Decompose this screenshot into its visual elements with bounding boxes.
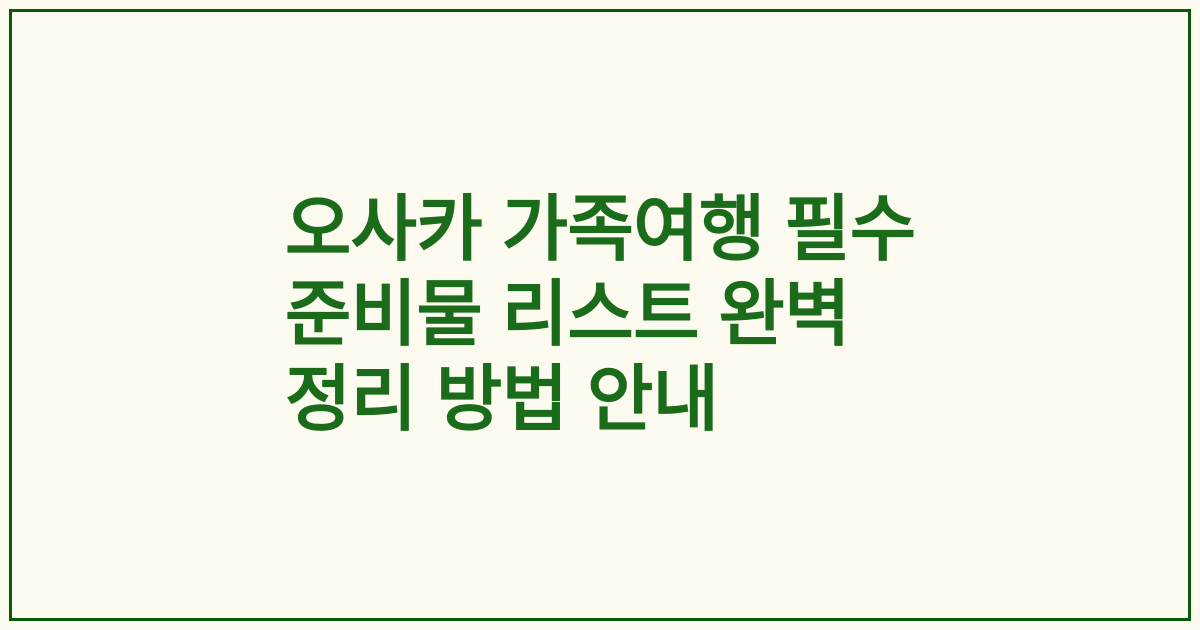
thumbnail-card: 오사카 가족여행 필수 준비물 리스트 완벽 정리 방법 안내: [0, 0, 1200, 630]
headline-line-1: 오사카 가족여행 필수: [285, 188, 916, 273]
headline-block: 오사카 가족여행 필수 준비물 리스트 완벽 정리 방법 안내: [285, 0, 985, 630]
headline-line-2: 준비물 리스트 완벽: [285, 273, 850, 358]
headline-line-3: 정리 방법 안내: [285, 358, 718, 443]
